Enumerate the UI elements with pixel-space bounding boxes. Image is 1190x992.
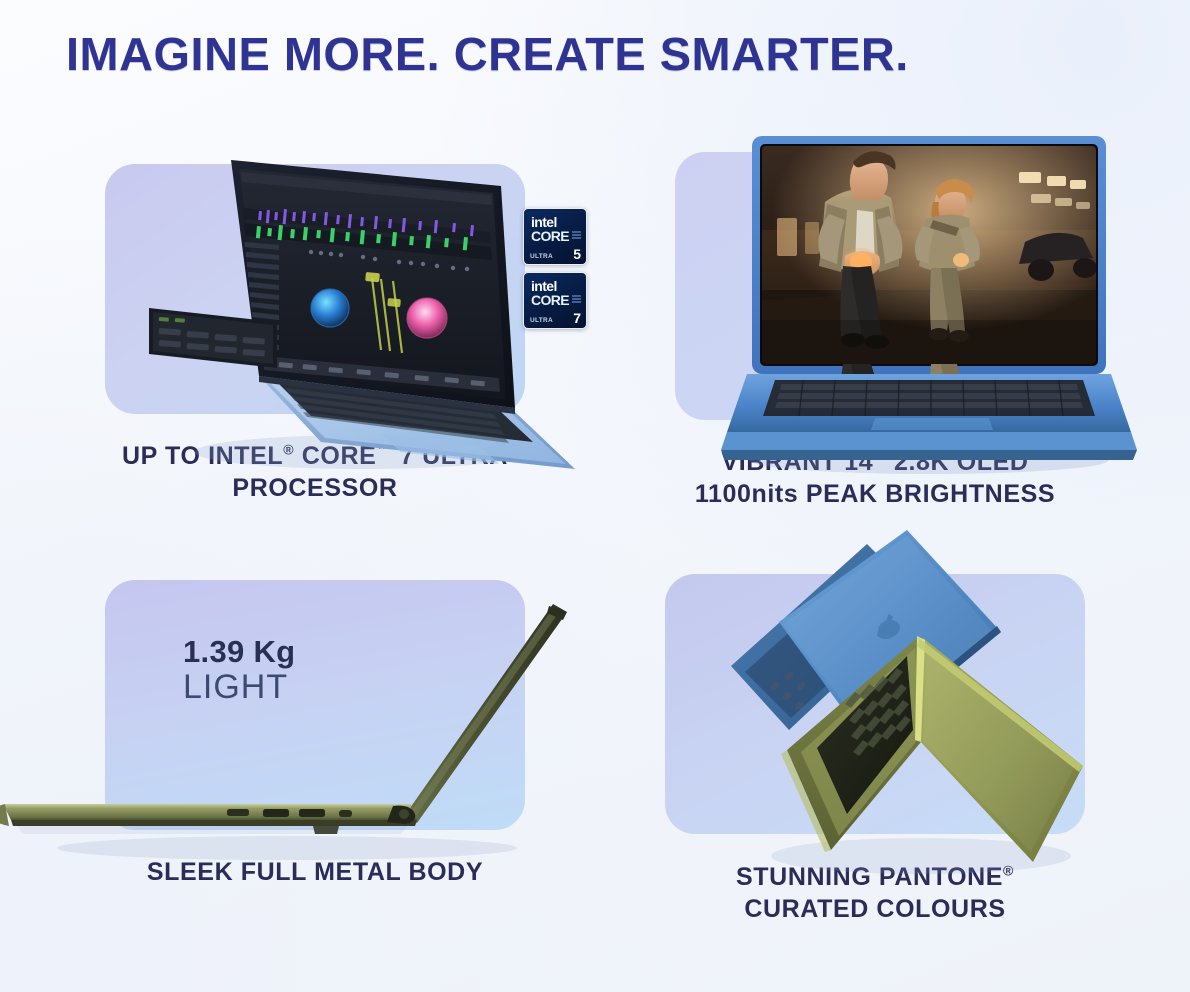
badge-tier-number: 7 <box>573 313 581 324</box>
intel-wordmark: intel <box>524 215 586 229</box>
badge-tier-label: ULTRA <box>530 253 553 260</box>
feature-colours-image-card <box>665 574 1085 834</box>
laptop-cinematic-scene-illustration <box>675 152 1075 420</box>
feature-colours: STUNNING PANTONE® CURATED COLOURS <box>600 552 1150 992</box>
intel-wordmark: intel <box>524 279 586 293</box>
feature-grid: intel CORE ULTRA 5 intel CORE ULTRA 7 <box>0 108 1190 992</box>
badge-tier-number: 5 <box>573 249 581 260</box>
weight-callout: 1.39 Kg LIGHT <box>183 634 295 707</box>
intel-badge-group: intel CORE ULTRA 5 intel CORE ULTRA 7 <box>523 208 587 329</box>
laptop-colour-options-illustration <box>665 574 1085 834</box>
badge-circuit-lines <box>572 231 581 239</box>
weight-label: LIGHT <box>183 668 295 707</box>
badge-tier-row: ULTRA 7 <box>530 313 581 324</box>
intel-core-ultra-7-badge: intel CORE ULTRA 7 <box>523 272 587 329</box>
feature-display: VIBRANT 14” 2.8K OLED 1100nits PEAK BRIG… <box>600 108 1150 548</box>
feature-processor: intel CORE ULTRA 5 intel CORE ULTRA 7 <box>40 108 590 548</box>
badge-tier-row: ULTRA 5 <box>530 249 581 260</box>
page-title: IMAGINE MORE. CREATE SMARTER. <box>66 27 909 81</box>
laptop-editing-illustration <box>105 164 525 414</box>
feature-processor-image-card: intel CORE ULTRA 5 intel CORE ULTRA 7 <box>105 164 525 414</box>
badge-tier-label: ULTRA <box>530 317 553 324</box>
headline-bar: IMAGINE MORE. CREATE SMARTER. <box>0 0 1190 108</box>
feature-chassis: 1.39 Kg LIGHT <box>40 552 590 992</box>
feature-display-image-card <box>675 152 1075 420</box>
feature-chassis-image-card: 1.39 Kg LIGHT <box>105 580 525 830</box>
laptop-side-profile-illustration <box>105 580 525 830</box>
badge-circuit-lines <box>572 295 581 303</box>
weight-value: 1.39 Kg <box>183 634 295 670</box>
intel-core-ultra-5-badge: intel CORE ULTRA 5 <box>523 208 587 265</box>
